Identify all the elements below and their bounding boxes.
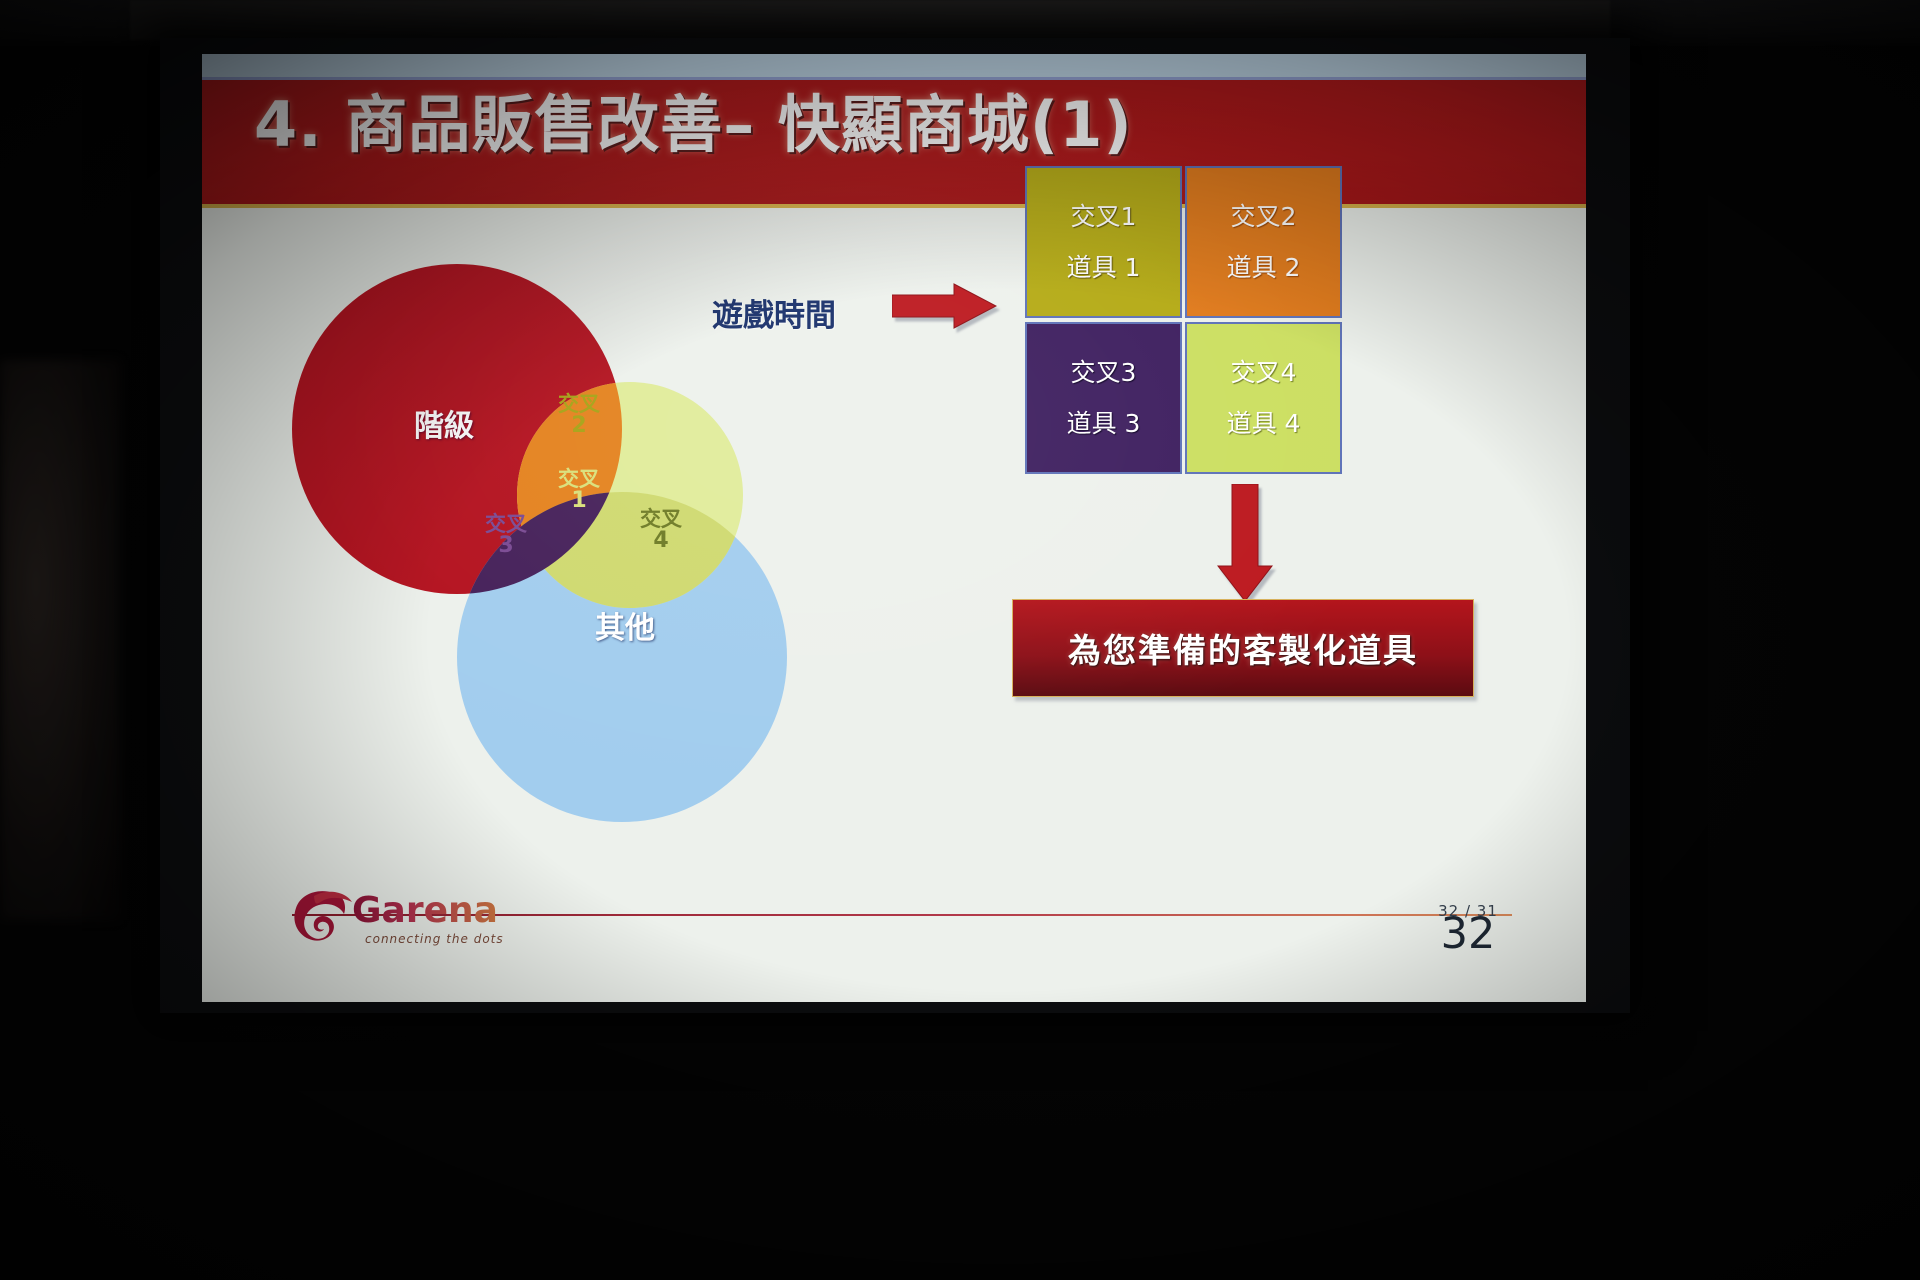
grid-cell-4-title: 交叉4 — [1231, 360, 1297, 385]
venn-label-other: 其他 — [560, 614, 690, 645]
grid-cell-1[interactable]: 交叉1 道具 1 — [1025, 166, 1182, 318]
grid-cell-1-title: 交叉1 — [1071, 204, 1137, 229]
result-banner: 為您準備的客製化道具 — [1012, 599, 1474, 697]
slide-canvas: 4. 商品販售改善– 快顯商城(1) 階級 其他 — [202, 54, 1586, 1002]
grid-cell-2-title: 交叉2 — [1231, 204, 1297, 229]
venn-diagram: 階級 其他 交叉 2 交叉 1 交叉 3 交叉 4 — [292, 264, 852, 824]
grid-cell-2-item: 道具 2 — [1227, 255, 1301, 280]
venn-label-class: 階級 — [374, 412, 514, 443]
grid-cell-3[interactable]: 交叉3 道具 3 — [1025, 322, 1182, 474]
venn-intersection-2: 交叉 2 — [547, 394, 611, 438]
item-grid: 交叉1 道具 1 交叉2 道具 2 交叉3 道具 3 交叉4 道具 4 — [1025, 166, 1345, 478]
venn-intersection-2-label: 交叉 — [558, 392, 600, 416]
ceiling-edge — [130, 0, 1610, 40]
grid-cell-3-item: 道具 3 — [1067, 411, 1141, 436]
page-number-block: 32 / 31 32 — [1408, 902, 1528, 955]
venn-intersection-4-num: 4 — [629, 530, 693, 552]
venn-intersection-1: 交叉 1 — [547, 469, 611, 513]
grid-cell-2[interactable]: 交叉2 道具 2 — [1185, 166, 1342, 318]
page-number: 32 — [1408, 914, 1528, 955]
venn-intersection-3: 交叉 3 — [474, 514, 538, 558]
page-title: 4. 商品販售改善– 快顯商城(1) — [254, 94, 1534, 156]
garena-logo-tagline: connecting the dots — [365, 932, 504, 946]
venn-intersection-4-label: 交叉 — [640, 507, 682, 531]
grid-cell-4[interactable]: 交叉4 道具 4 — [1185, 322, 1342, 474]
result-banner-text: 為您準備的客製化道具 — [1068, 624, 1418, 672]
projection-screen: 4. 商品販售改善– 快顯商城(1) 階級 其他 — [160, 38, 1630, 1013]
right-arrow-icon — [892, 282, 997, 330]
silhouette-left — [0, 360, 120, 920]
venn-intersection-1-label: 交叉 — [558, 467, 600, 491]
venn-intersection-4: 交叉 4 — [629, 509, 693, 553]
grid-cell-1-item: 道具 1 — [1067, 255, 1141, 280]
venn-intersection-2-num: 2 — [547, 415, 611, 437]
dark-room: 4. 商品販售改善– 快顯商城(1) 階級 其他 — [0, 0, 1920, 1280]
grid-cell-4-item: 道具 4 — [1227, 411, 1301, 436]
grid-cell-3-title: 交叉3 — [1071, 360, 1137, 385]
venn-intersection-1-num: 1 — [547, 490, 611, 512]
down-arrow-icon — [1217, 484, 1273, 602]
venn-intersection-3-num: 3 — [474, 535, 538, 557]
garena-logo-wordmark: Garena — [352, 890, 498, 931]
slide-top-blue-bar — [202, 54, 1586, 80]
venn-intersection-3-label: 交叉 — [485, 512, 527, 536]
